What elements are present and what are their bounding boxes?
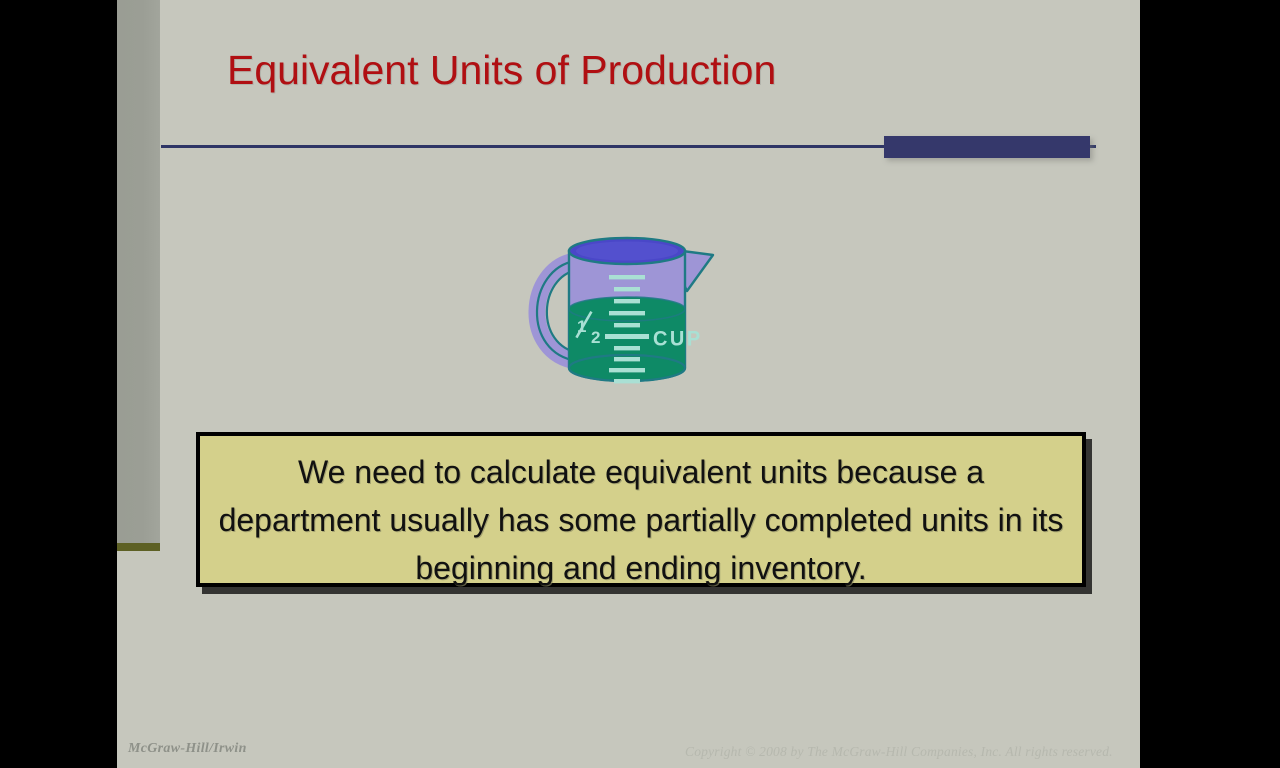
footer-publisher: McGraw-Hill/Irwin [128,741,247,757]
cup-unit-label: CUP [653,327,703,351]
presentation-screen: Equivalent Units of Production [0,0,1280,768]
slide-title: Equivalent Units of Production [227,47,1067,94]
callout-textbox: We need to calculate equivalent units be… [196,432,1086,587]
svg-text:2: 2 [591,328,600,347]
header-navy-block [884,136,1090,158]
left-band-olive-accent [117,543,160,551]
slide-canvas: Equivalent Units of Production [117,0,1140,768]
footer-copyright: Copyright © 2008 by The McGraw-Hill Comp… [685,744,1113,760]
measuring-cup-graphic: 1 2 CUP [517,233,737,398]
left-decorative-band [117,0,160,546]
callout-text: We need to calculate equivalent units be… [214,448,1068,592]
